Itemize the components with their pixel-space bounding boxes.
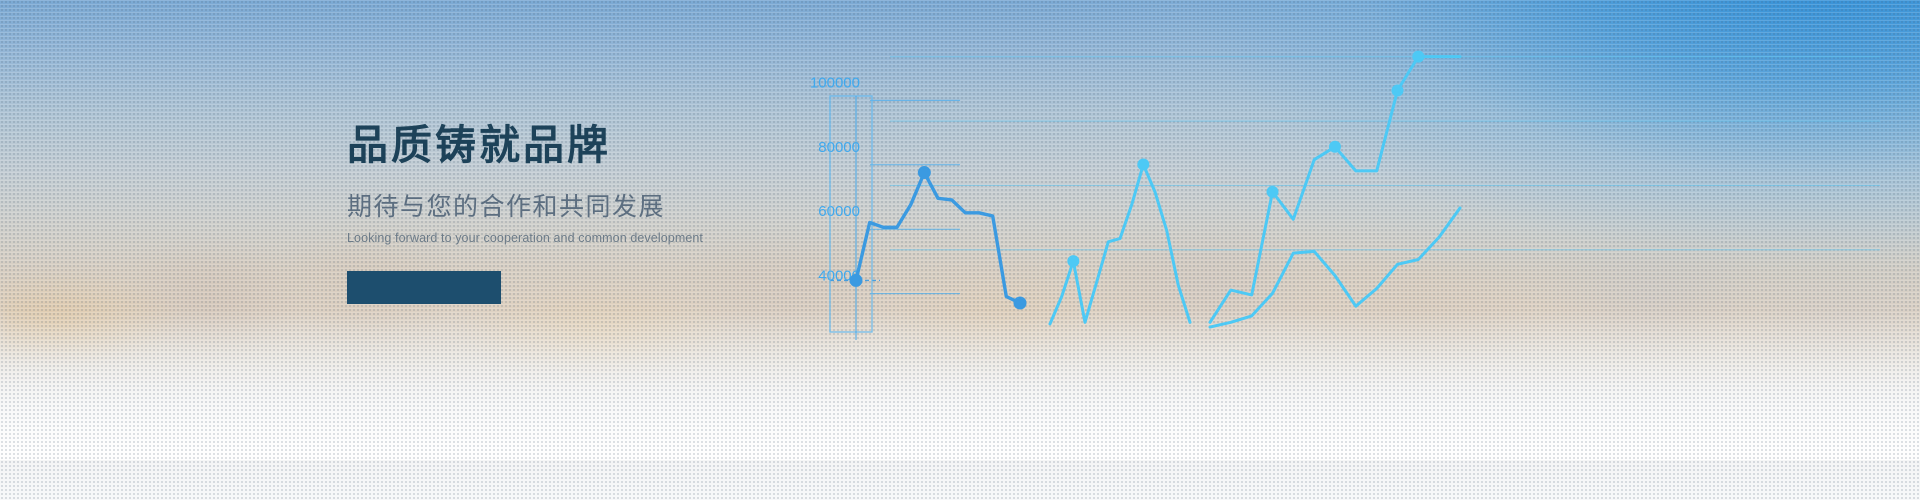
chart-data-point[interactable]: [1392, 84, 1404, 96]
cta-button[interactable]: [347, 271, 501, 304]
chart-data-point[interactable]: [1329, 141, 1341, 153]
chart-line: [1210, 57, 1460, 323]
chart-data-point[interactable]: [1067, 255, 1079, 267]
line-chart: 100000800006000040000: [760, 0, 1920, 500]
chart-data-point[interactable]: [1014, 296, 1027, 309]
y-axis-label: 80000: [818, 139, 860, 156]
y-axis-label: 100000: [810, 74, 860, 91]
chart-data-point[interactable]: [918, 166, 931, 179]
y-axis-label: 60000: [818, 203, 860, 220]
hero-banner: 品质铸就品牌 期待与您的合作和共同发展 Looking forward to y…: [0, 0, 1920, 500]
chart-canvas: 100000800006000040000: [760, 0, 1920, 500]
chart-data-point[interactable]: [1137, 159, 1149, 171]
chart-data-point[interactable]: [1267, 186, 1279, 198]
chart-data-point[interactable]: [1412, 51, 1424, 63]
chart-line: [1210, 208, 1460, 327]
chart-line: [1050, 165, 1190, 324]
chart-data-point[interactable]: [850, 274, 863, 287]
chart-line: [856, 173, 1020, 303]
